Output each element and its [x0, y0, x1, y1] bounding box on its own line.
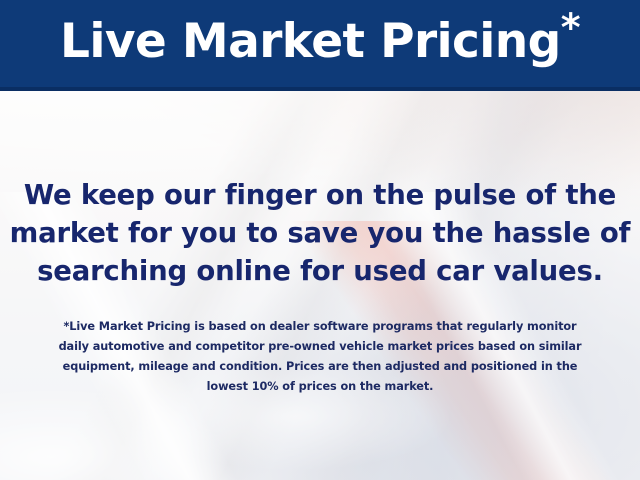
headline-line-1: We keep our finger on the pulse of the	[0, 176, 640, 214]
disclaimer-line-3: equipment, mileage and condition. Prices…	[24, 357, 616, 377]
headline-line-2: market for you to save you the hassle of	[0, 214, 640, 252]
header-banner: Live Market Pricing*	[0, 0, 640, 91]
disclaimer-line-4: lowest 10% of prices on the market.	[24, 377, 616, 397]
page-title-asterisk: *	[561, 5, 580, 49]
headline-line-3: searching online for used car values.	[0, 252, 640, 290]
disclaimer-line-2: daily automotive and competitor pre-owne…	[24, 337, 616, 357]
live-market-pricing-card: Live Market Pricing* We keep our finger …	[0, 0, 640, 480]
disclaimer: *Live Market Pricing is based on dealer …	[24, 317, 616, 397]
disclaimer-line-1: *Live Market Pricing is based on dealer …	[24, 317, 616, 337]
page-title-text: Live Market Pricing	[60, 14, 561, 69]
page-title: Live Market Pricing*	[60, 18, 580, 69]
headline: We keep our finger on the pulse of the m…	[0, 176, 640, 290]
content-area: We keep our finger on the pulse of the m…	[0, 95, 640, 480]
